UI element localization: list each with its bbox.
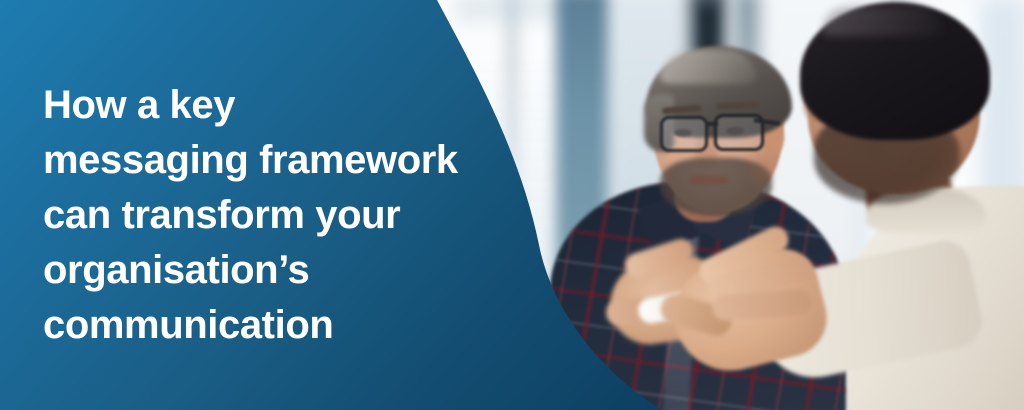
page-title: How a key messaging framework can transf… xyxy=(43,78,503,353)
eyeglasses-bridge xyxy=(706,122,718,126)
hair-highlight xyxy=(660,50,756,84)
gesturing-hands xyxy=(600,240,890,390)
cheek-shading xyxy=(744,148,778,192)
hero-banner: How a key messaging framework can transf… xyxy=(0,0,1024,410)
hair-highlight xyxy=(822,6,942,36)
mouth xyxy=(690,176,728,184)
eyeglasses-lens-left xyxy=(660,116,708,152)
